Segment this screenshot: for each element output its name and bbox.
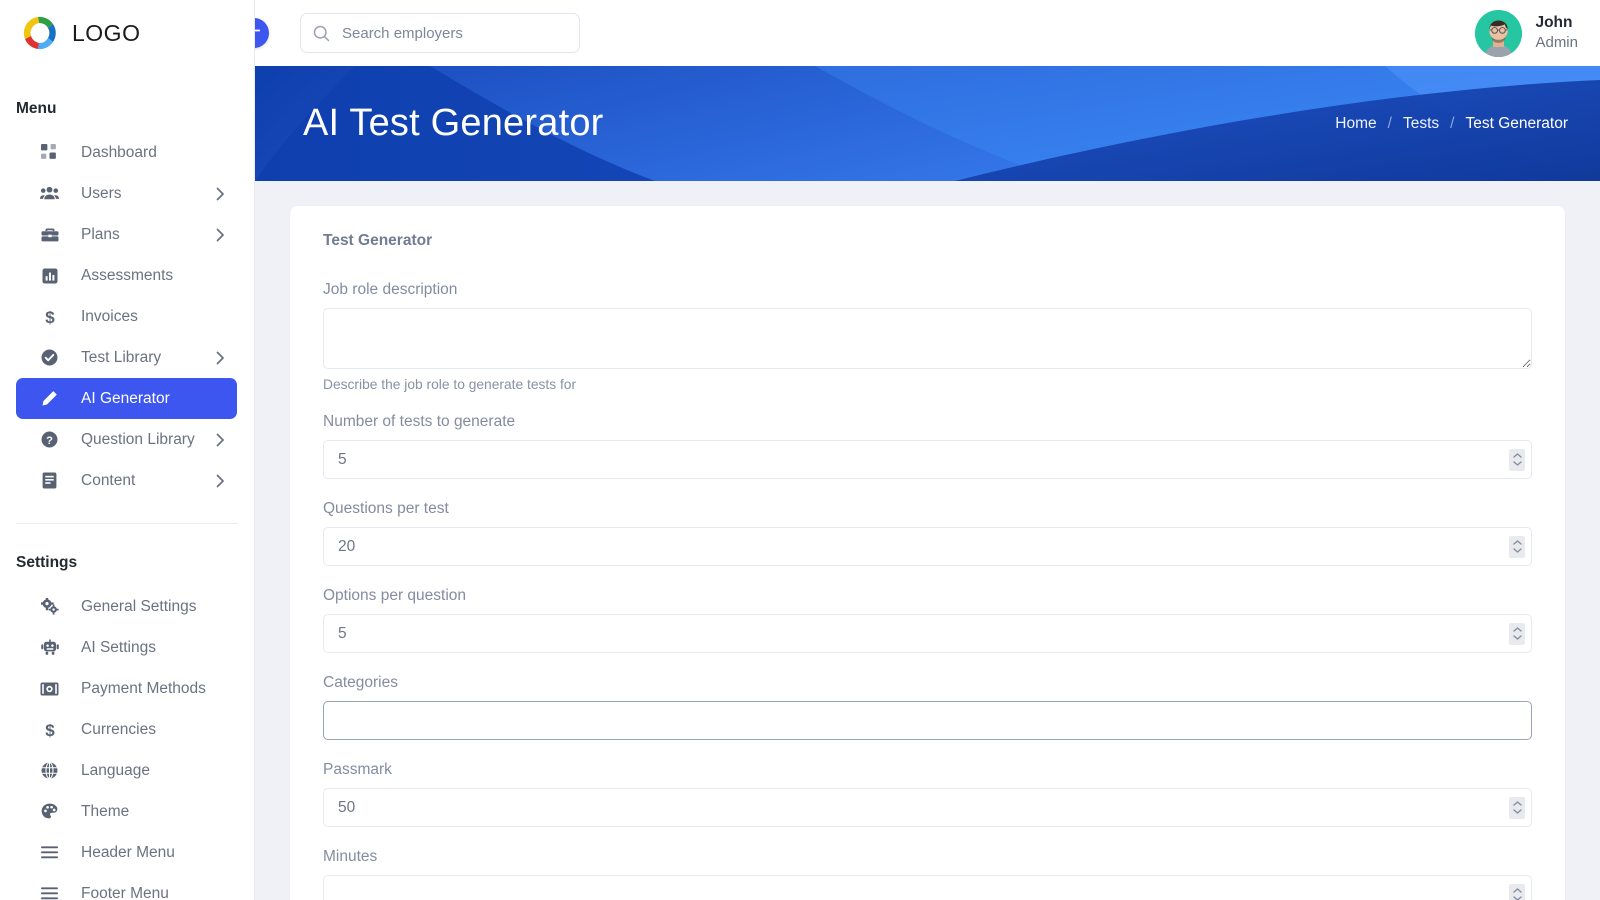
sidebar-item-question-library[interactable]: ? Question Library xyxy=(16,419,237,460)
passmark-input[interactable] xyxy=(323,788,1532,827)
breadcrumb-separator: / xyxy=(1450,115,1454,133)
sidebar-item-label: Assessments xyxy=(81,267,173,285)
minutes-input[interactable] xyxy=(323,875,1532,900)
arrow-left-icon xyxy=(255,22,263,44)
sidebar-item-label: Footer Menu xyxy=(81,885,169,900)
sidebar-item-footer-menu[interactable]: Footer Menu xyxy=(16,873,237,900)
dollar-icon: $ xyxy=(40,720,59,739)
users-icon xyxy=(40,184,59,203)
grid-icon xyxy=(40,143,59,162)
sidebar-item-label: Language xyxy=(81,762,150,780)
field-minutes: Minutes xyxy=(323,848,1532,900)
sidebar-item-label: Question Library xyxy=(81,431,195,449)
field-categories: Categories xyxy=(323,674,1532,740)
question-circle-icon: ? xyxy=(40,430,59,449)
sidebar-item-test-library[interactable]: Test Library xyxy=(16,337,237,378)
sidebar-item-label: Plans xyxy=(81,226,120,244)
sidebar-item-label: Users xyxy=(81,185,121,203)
sidebar-item-dashboard[interactable]: Dashboard xyxy=(16,132,237,173)
search-input[interactable] xyxy=(342,25,567,42)
gears-icon xyxy=(40,597,59,616)
chevron-right-icon xyxy=(216,351,225,365)
options-per-question-wrap xyxy=(323,614,1532,653)
number-of-tests-wrap xyxy=(323,440,1532,479)
sidebar: LOGO Menu Dashboard xyxy=(0,0,255,900)
sidebar-item-content[interactable]: Content xyxy=(16,460,237,501)
card-title: Test Generator xyxy=(323,232,1532,250)
app-root: LOGO Menu Dashboard xyxy=(0,0,1600,900)
chevron-right-icon xyxy=(216,474,225,488)
breadcrumb-home[interactable]: Home xyxy=(1335,115,1376,133)
robot-icon xyxy=(40,638,59,657)
globe-icon xyxy=(40,761,59,780)
back-button[interactable] xyxy=(255,18,269,48)
sidebar-settings-list: General Settings AI xyxy=(0,586,254,900)
sidebar-item-assessments[interactable]: Assessments xyxy=(16,255,237,296)
categories-input[interactable] xyxy=(323,701,1532,740)
field-job-role: Job role description Describe the job ro… xyxy=(323,281,1532,392)
main-area: John Admin xyxy=(255,0,1600,900)
brand-name: LOGO xyxy=(72,20,140,47)
money-bill-icon xyxy=(40,679,59,698)
user-name: John xyxy=(1535,13,1578,33)
sidebar-item-label: Test Library xyxy=(81,349,161,367)
list-icon xyxy=(40,884,59,900)
field-number-of-tests: Number of tests to generate xyxy=(323,413,1532,479)
user-menu[interactable]: John Admin xyxy=(1475,10,1578,57)
passmark-stepper[interactable] xyxy=(1509,797,1525,819)
user-meta: John Admin xyxy=(1535,13,1578,53)
questions-per-test-label: Questions per test xyxy=(323,500,1532,518)
sidebar-menu-list: Dashboard Users xyxy=(0,132,254,501)
minutes-wrap xyxy=(323,875,1532,900)
minutes-label: Minutes xyxy=(323,848,1532,866)
sidebar-item-label: Dashboard xyxy=(81,144,157,162)
sidebar-item-users[interactable]: Users xyxy=(16,173,237,214)
sidebar-item-currencies[interactable]: $ Currencies xyxy=(16,709,237,750)
options-per-question-label: Options per question xyxy=(323,587,1532,605)
sidebar-settings-title: Settings xyxy=(0,524,254,586)
number-of-tests-stepper[interactable] xyxy=(1509,449,1525,471)
avatar xyxy=(1475,10,1522,57)
chevron-right-icon xyxy=(216,228,225,242)
sidebar-item-label: Header Menu xyxy=(81,844,175,862)
breadcrumb: Home / Tests / Test Generator xyxy=(1335,115,1568,133)
sidebar-item-label: Theme xyxy=(81,803,129,821)
dollar-icon: $ xyxy=(40,307,59,326)
breadcrumb-current: Test Generator xyxy=(1465,115,1568,133)
test-generator-card: Test Generator Job role description Desc… xyxy=(290,206,1565,900)
sidebar-item-language[interactable]: Language xyxy=(16,750,237,791)
search-icon xyxy=(313,25,330,42)
list-icon xyxy=(40,843,59,862)
sidebar-item-invoices[interactable]: $ Invoices xyxy=(16,296,237,337)
svg-text:$: $ xyxy=(45,308,55,326)
sidebar-item-label: AI Settings xyxy=(81,639,156,657)
sidebar-item-plans[interactable]: Plans xyxy=(16,214,237,255)
palette-icon xyxy=(40,802,59,821)
svg-text:?: ? xyxy=(46,435,53,447)
page-hero: AI Test Generator Home / Tests / Test Ge… xyxy=(255,66,1600,181)
chevron-right-icon xyxy=(216,433,225,447)
sidebar-item-ai-generator[interactable]: AI Generator xyxy=(16,378,237,419)
questions-per-test-input[interactable] xyxy=(323,527,1532,566)
minutes-stepper[interactable] xyxy=(1509,884,1525,900)
sidebar-menu-title: Menu xyxy=(0,66,254,132)
job-role-label: Job role description xyxy=(323,281,1532,299)
topbar: John Admin xyxy=(255,0,1600,66)
options-per-question-stepper[interactable] xyxy=(1509,623,1525,645)
brand[interactable]: LOGO xyxy=(0,0,254,66)
sidebar-item-header-menu[interactable]: Header Menu xyxy=(16,832,237,873)
bar-chart-icon xyxy=(40,266,59,285)
breadcrumb-tests[interactable]: Tests xyxy=(1403,115,1439,133)
questions-per-test-wrap xyxy=(323,527,1532,566)
sidebar-item-ai-settings[interactable]: AI Settings xyxy=(16,627,237,668)
chevron-right-icon xyxy=(216,187,225,201)
sidebar-item-payment-methods[interactable]: Payment Methods xyxy=(16,668,237,709)
pencil-icon xyxy=(40,389,59,408)
sidebar-item-label: Payment Methods xyxy=(81,680,206,698)
sidebar-item-label: Content xyxy=(81,472,135,490)
job-role-textarea[interactable] xyxy=(323,308,1532,369)
passmark-wrap xyxy=(323,788,1532,827)
options-per-question-input[interactable] xyxy=(323,614,1532,653)
user-role: Admin xyxy=(1535,33,1578,53)
sidebar-item-label: Invoices xyxy=(81,308,138,326)
breadcrumb-separator: / xyxy=(1388,115,1392,133)
sidebar-item-general-settings[interactable]: General Settings xyxy=(16,586,237,627)
categories-label: Categories xyxy=(323,674,1532,692)
content-area: Test Generator Job role description Desc… xyxy=(255,181,1600,900)
field-options-per-question: Options per question xyxy=(323,587,1532,653)
job-role-hint: Describe the job role to generate tests … xyxy=(323,377,1532,392)
categories-wrap xyxy=(323,701,1532,740)
color-swirl-logo-icon xyxy=(18,11,62,55)
passmark-label: Passmark xyxy=(323,761,1532,779)
field-passmark: Passmark xyxy=(323,761,1532,827)
book-icon xyxy=(40,471,59,490)
number-of-tests-label: Number of tests to generate xyxy=(323,413,1532,431)
svg-text:$: $ xyxy=(45,721,55,739)
check-circle-icon xyxy=(40,348,59,367)
number-of-tests-input[interactable] xyxy=(323,440,1532,479)
sidebar-item-theme[interactable]: Theme xyxy=(16,791,237,832)
sidebar-item-label: Currencies xyxy=(81,721,156,739)
field-questions-per-test: Questions per test xyxy=(323,500,1532,566)
questions-per-test-stepper[interactable] xyxy=(1509,536,1525,558)
search-box[interactable] xyxy=(300,13,580,53)
briefcase-icon xyxy=(40,225,59,244)
page-title: AI Test Generator xyxy=(303,102,604,145)
sidebar-item-label: AI Generator xyxy=(81,390,170,408)
sidebar-item-label: General Settings xyxy=(81,598,196,616)
